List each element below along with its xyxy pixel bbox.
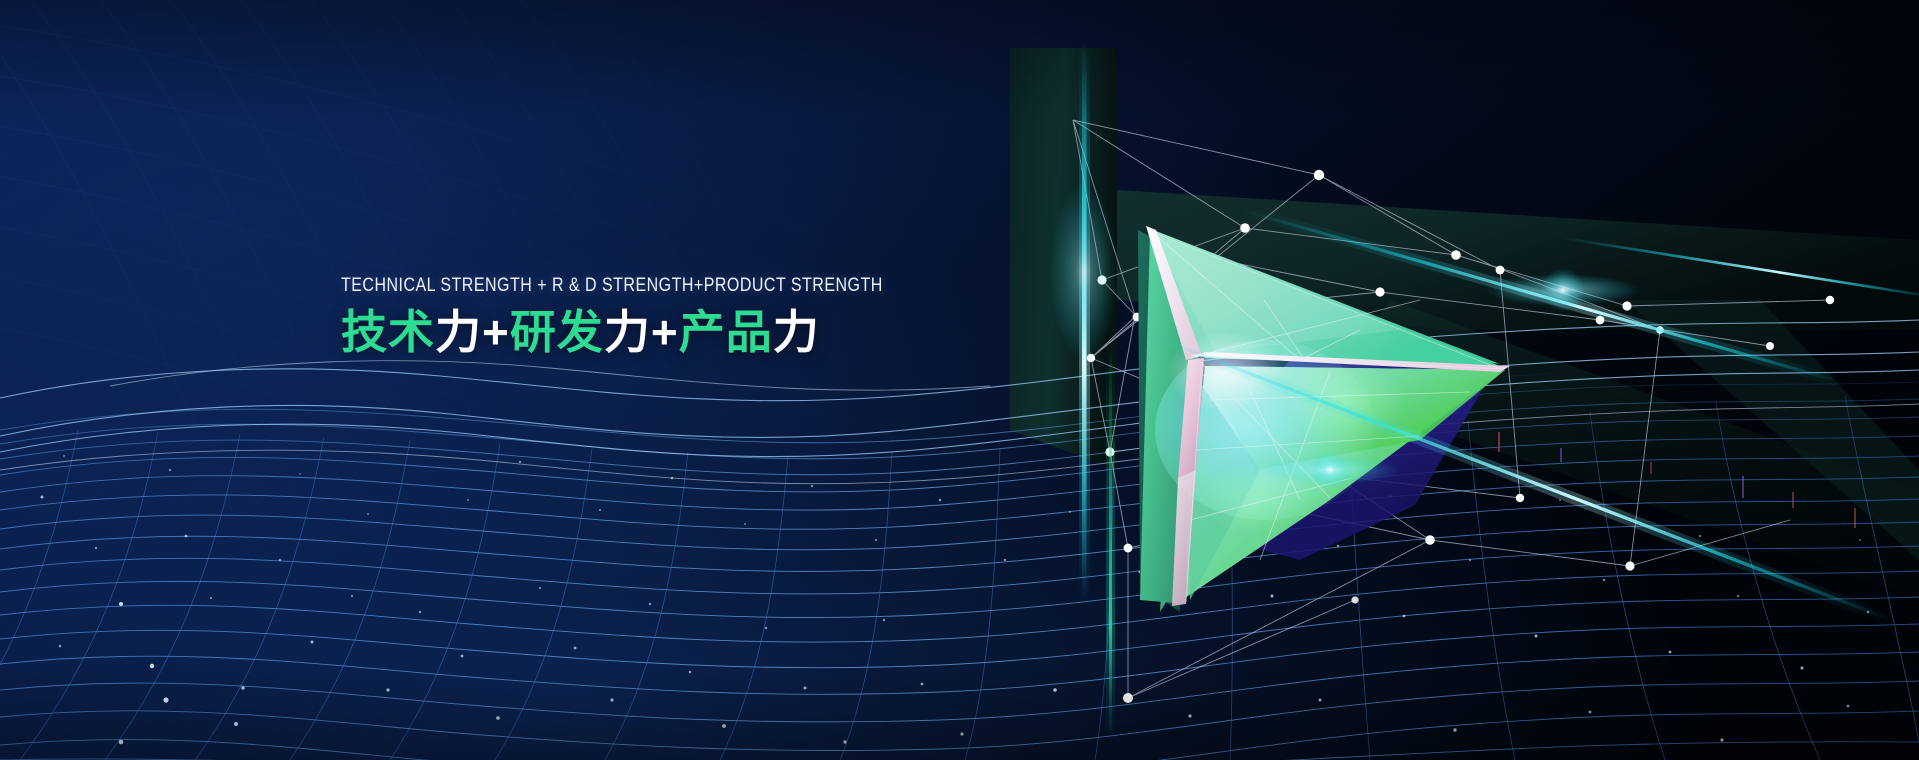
- dark-prism-slabs: [0, 0, 1919, 760]
- wireframe-terrain-mesh: [0, 0, 1919, 760]
- particle-dots: [0, 0, 1919, 760]
- eyebrow-text: TECHNICAL STRENGTH + R & D STRENGTH+PROD…: [341, 276, 883, 296]
- headline-block: TECHNICAL STRENGTH + R & D STRENGTH+PROD…: [341, 276, 1002, 359]
- node-network-constellation: [0, 0, 1919, 760]
- title-segment-1: 技术: [341, 306, 435, 358]
- title-segment-3: 研发: [510, 306, 604, 358]
- play-triangle-prism: [0, 0, 1919, 760]
- title-segment-5: 产品: [679, 306, 773, 358]
- page-title: 技术力+研发力+产品力: [341, 306, 1002, 359]
- title-segment-4: 力+: [604, 306, 679, 358]
- faint-upper-grid: [0, 0, 1919, 760]
- cyan-light-streak: [0, 0, 1919, 760]
- title-segment-2: 力+: [435, 306, 510, 358]
- title-segment-6: 力: [773, 306, 820, 358]
- vignette-overlay: [0, 0, 1919, 760]
- hero-banner: TECHNICAL STRENGTH + R & D STRENGTH+PROD…: [0, 0, 1919, 760]
- background-gradient: [0, 0, 1919, 760]
